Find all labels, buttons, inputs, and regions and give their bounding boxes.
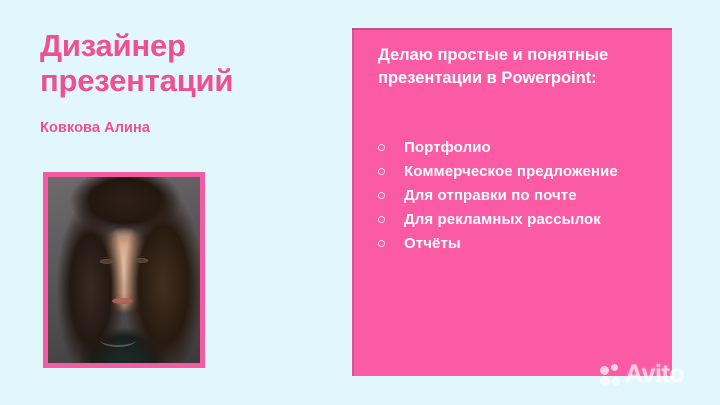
list-item: Коммерческое предложение — [378, 160, 658, 182]
page-title: Дизайнер презентаций — [40, 28, 330, 98]
list-item: Портфолио — [378, 136, 658, 158]
list-item: Для рекламных рассылок — [378, 208, 658, 230]
list-item-label: Для отправки по почте — [404, 187, 577, 204]
author-name: Ковкова Алина — [40, 120, 330, 136]
list-item-label: Отчёты — [404, 235, 461, 252]
list-item-label: Для рекламных рассылок — [404, 211, 601, 228]
circle-outline-icon — [378, 216, 385, 223]
list-item-label: Портфолио — [404, 139, 491, 156]
avito-wordmark: Avito — [625, 360, 684, 389]
avito-watermark: Avito — [600, 360, 684, 389]
panel-heading: Делаю простые и понятные презентации в P… — [378, 44, 646, 91]
portrait-photo — [48, 177, 200, 363]
list-item: Для отправки по почте — [378, 184, 658, 206]
eye-left — [100, 259, 113, 264]
circle-outline-icon — [378, 168, 385, 175]
eye-right — [135, 258, 148, 263]
list-item: Отчёты — [378, 232, 658, 254]
mouth — [112, 298, 133, 304]
slide-canvas: Дизайнер презентаций Ковкова Алина Делаю… — [0, 0, 720, 405]
info-panel: Делаю простые и понятные презентации в P… — [352, 28, 672, 376]
necklace — [100, 333, 136, 347]
portrait-photo-frame — [43, 172, 205, 368]
avito-dots-icon — [600, 364, 622, 386]
list-item-label: Коммерческое предложение — [404, 163, 618, 180]
circle-outline-icon — [378, 240, 385, 247]
circle-outline-icon — [378, 144, 385, 151]
circle-outline-icon — [378, 192, 385, 199]
service-list: Портфолио Коммерческое предложение Для о… — [378, 136, 658, 256]
